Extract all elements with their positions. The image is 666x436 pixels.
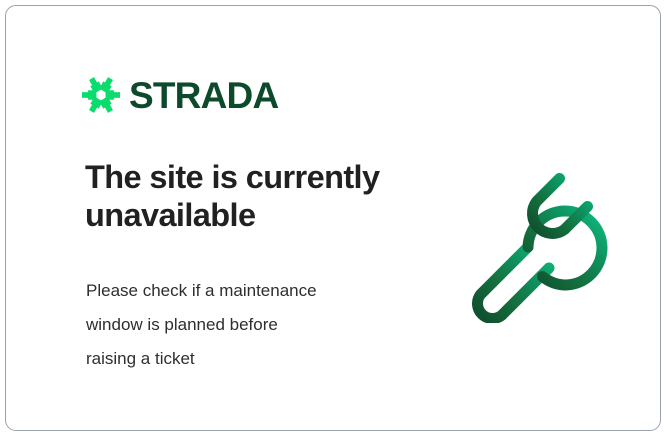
description-line: window is planned before	[86, 308, 396, 342]
status-card: STRADA The site is currently unavailable…	[5, 5, 661, 431]
brand-wordmark: STRADA	[129, 77, 278, 114]
page-description: Please check if a maintenance window is …	[86, 274, 396, 376]
wrench-icon	[458, 151, 618, 323]
page-title: The site is currently unavailable	[85, 158, 415, 234]
strada-asterisk-icon	[82, 76, 120, 114]
error-page: STRADA The site is currently unavailable…	[0, 0, 666, 436]
brand-logo: STRADA	[82, 76, 278, 114]
description-line: Please check if a maintenance	[86, 274, 396, 308]
description-line: raising a ticket	[86, 342, 396, 376]
